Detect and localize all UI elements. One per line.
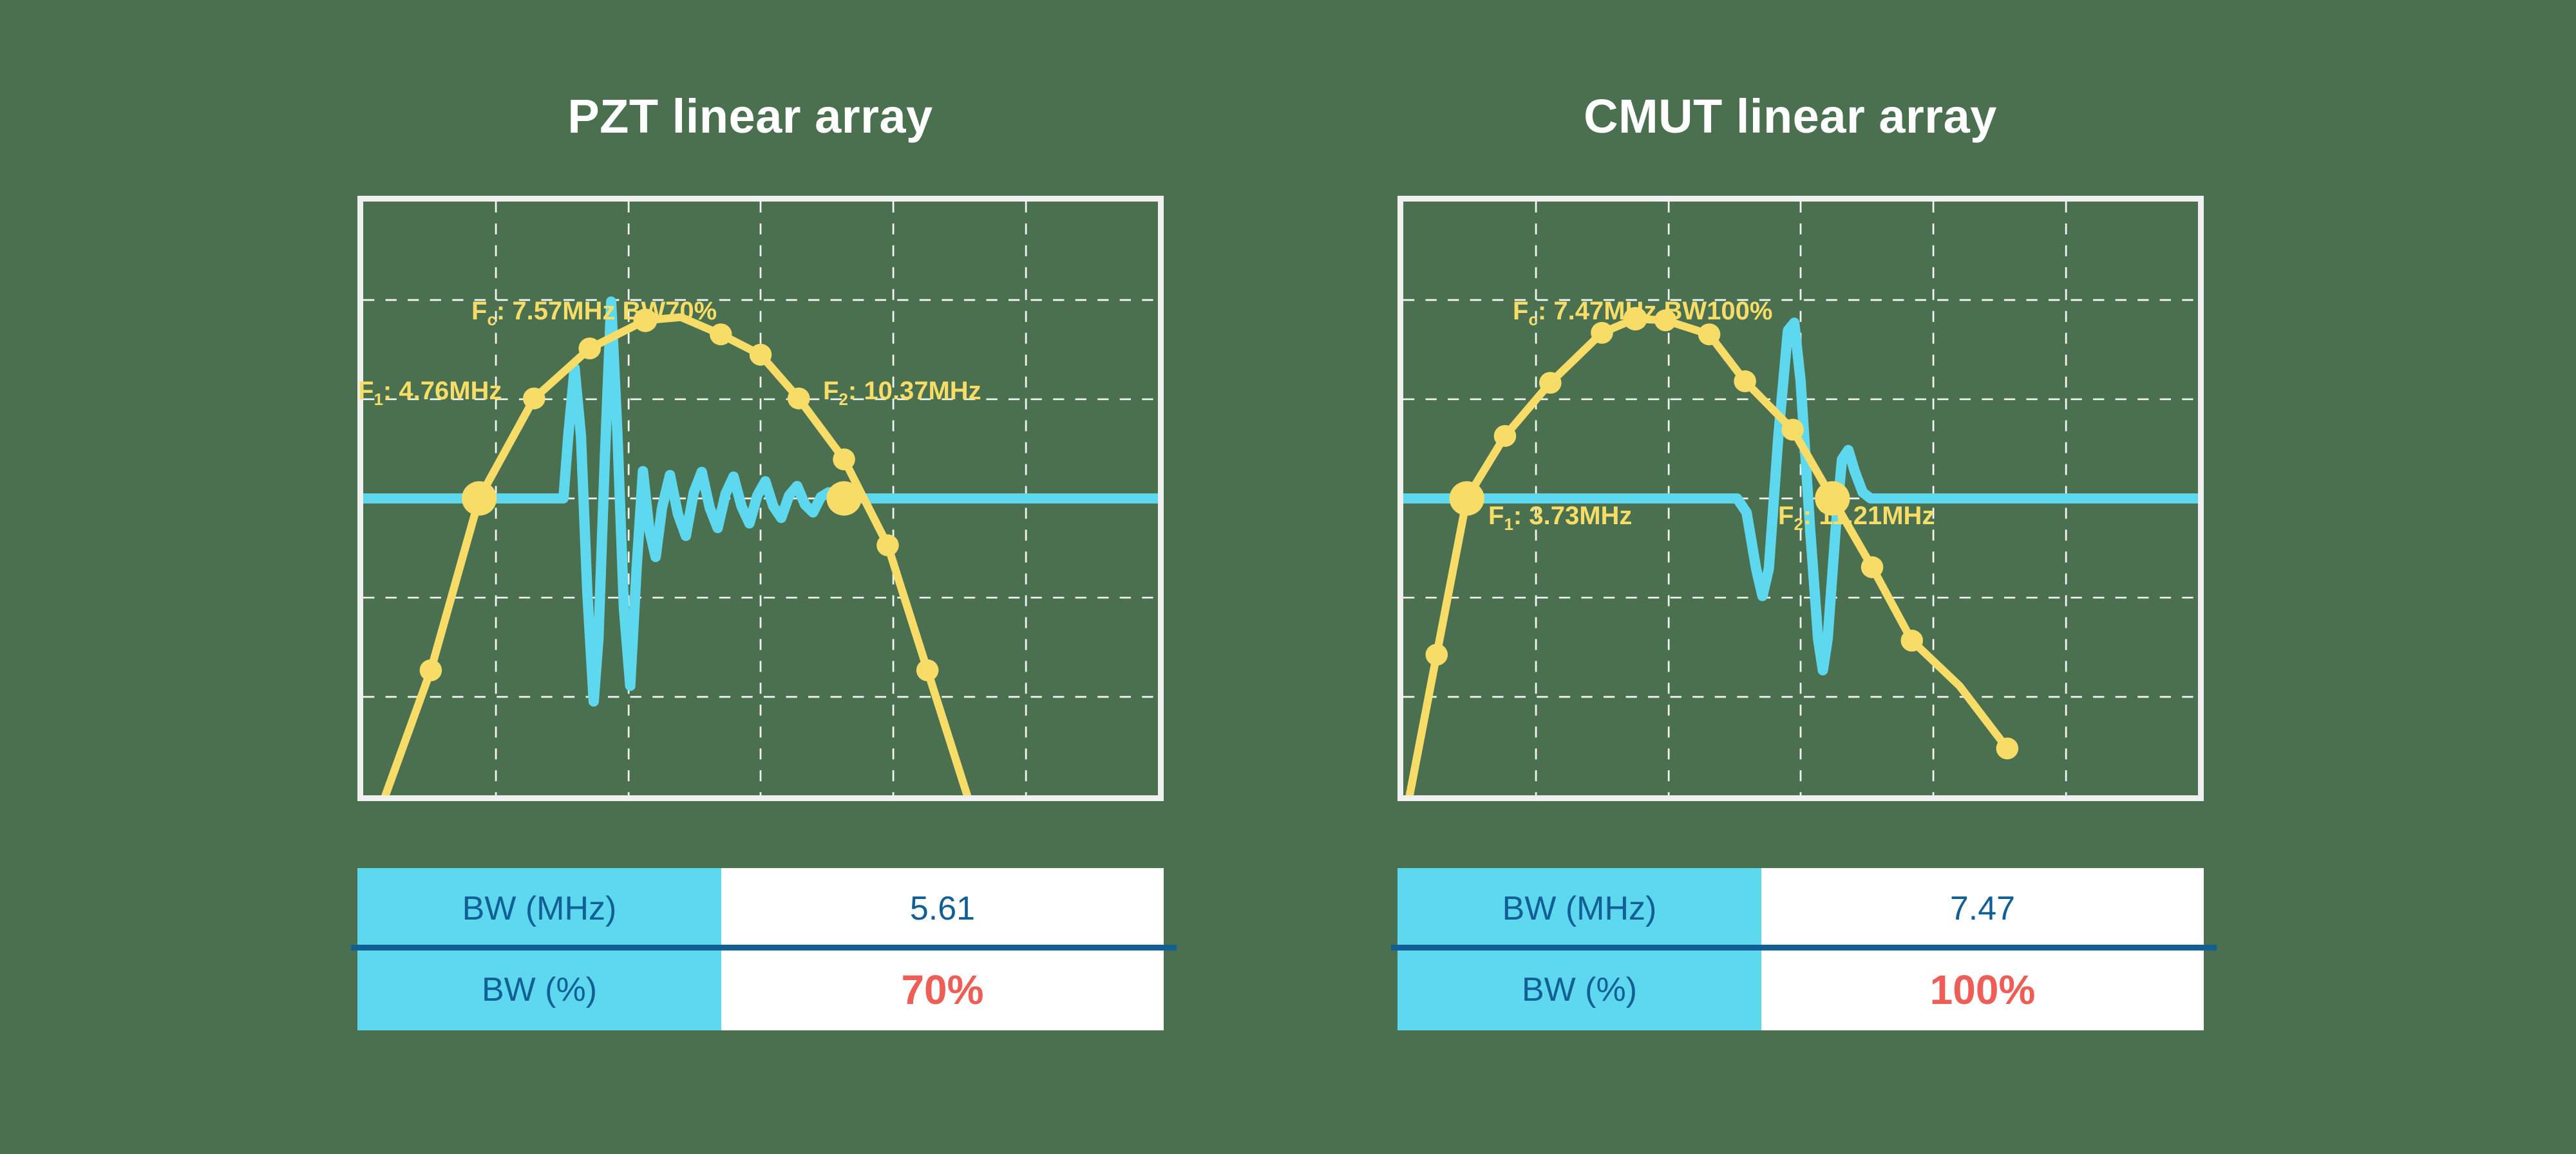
f2-prefix-cmut: F [1778,502,1794,530]
f1-marker-cmut [1450,481,1484,515]
frequency-response-markers-cmut [1426,307,2019,759]
f1-subscript-pzt: 1 [374,390,383,409]
annotation-f2-cmut: F2: 11.21MHz [1778,502,1935,531]
fc-prefix-cmut: F [1513,297,1528,325]
annotation-f2-pzt: F2: 10.37MHz [823,377,981,406]
f2-marker-pzt [826,481,861,515]
table-row: BW (%) 70% [357,949,1164,1030]
chart-svg-cmut [1403,202,2198,795]
chart-frame-cmut: Fc: 7.47MHz BW100% F1: 3.73MHz F2: 11.21… [1397,196,2204,801]
fc-subscript-cmut: c [1528,310,1537,329]
fc-text-cmut: : 7.47MHz BW100% [1538,297,1773,325]
fc-prefix-pzt: F [471,297,487,325]
table-row: BW (MHz) 7.47 [1397,868,2204,949]
panel-title-pzt: PZT linear array [299,89,1201,144]
figure-root: PZT linear array [0,0,2576,1154]
frequency-response-curve-cmut [1410,319,2007,795]
chart-plot-area-cmut [1403,202,2198,795]
table-row: BW (MHz) 5.61 [357,868,1164,949]
table-cell-value: 5.61 [721,868,1164,949]
panel-pzt: PZT linear array [299,0,1201,1154]
f1-subscript-cmut: 1 [1504,515,1513,534]
panel-cmut: CMUT linear array [1340,0,2241,1154]
bandwidth-table-cmut: BW (MHz) 7.47 BW (%) 100% [1397,868,2204,1030]
chart-plot-area-pzt [363,202,1158,795]
table-cell-key: BW (%) [357,949,721,1030]
f1-text-pzt: : 4.76MHz [383,377,502,405]
chart-svg-pzt [363,202,1158,795]
table-cell-value: 7.47 [1761,868,2204,949]
annotation-f1-pzt: F1: 4.76MHz [358,377,502,406]
annotation-center-frequency-pzt: Fc: 7.57MHz BW70% [471,297,717,326]
annotation-f1-cmut: F1: 3.73MHz [1488,502,1632,531]
f1-text-cmut: : 3.73MHz [1513,502,1633,530]
f2-text-cmut: : 11.21MHz [1803,502,1935,530]
f1-prefix-pzt: F [358,377,374,405]
table-cell-value-accent: 100% [1761,949,2204,1030]
fc-text-pzt: : 7.57MHz BW70% [497,297,717,325]
f1-prefix-cmut: F [1488,502,1504,530]
chart-frame-pzt: Fc: 7.57MHz BW70% F1: 4.76MHz F2: 10.37M… [357,196,1164,801]
table-divider-line [1391,945,2217,951]
fc-subscript-pzt: c [487,310,496,329]
f2-subscript-pzt: 2 [838,390,848,409]
f2-subscript-cmut: 2 [1794,515,1803,534]
f2-prefix-pzt: F [823,377,838,405]
table-divider-line [351,945,1177,951]
panel-title-cmut: CMUT linear array [1340,89,2241,144]
table-cell-key: BW (MHz) [357,868,721,949]
f2-text-pzt: : 10.37MHz [848,377,981,405]
bandwidth-table-pzt: BW (MHz) 5.61 BW (%) 70% [357,868,1164,1030]
f1-marker-pzt [462,481,497,515]
table-cell-key: BW (MHz) [1397,868,1761,949]
table-cell-key: BW (%) [1397,949,1761,1030]
table-cell-value-accent: 70% [721,949,1164,1030]
table-row: BW (%) 100% [1397,949,2204,1030]
annotation-center-frequency-cmut: Fc: 7.47MHz BW100% [1513,297,1772,326]
